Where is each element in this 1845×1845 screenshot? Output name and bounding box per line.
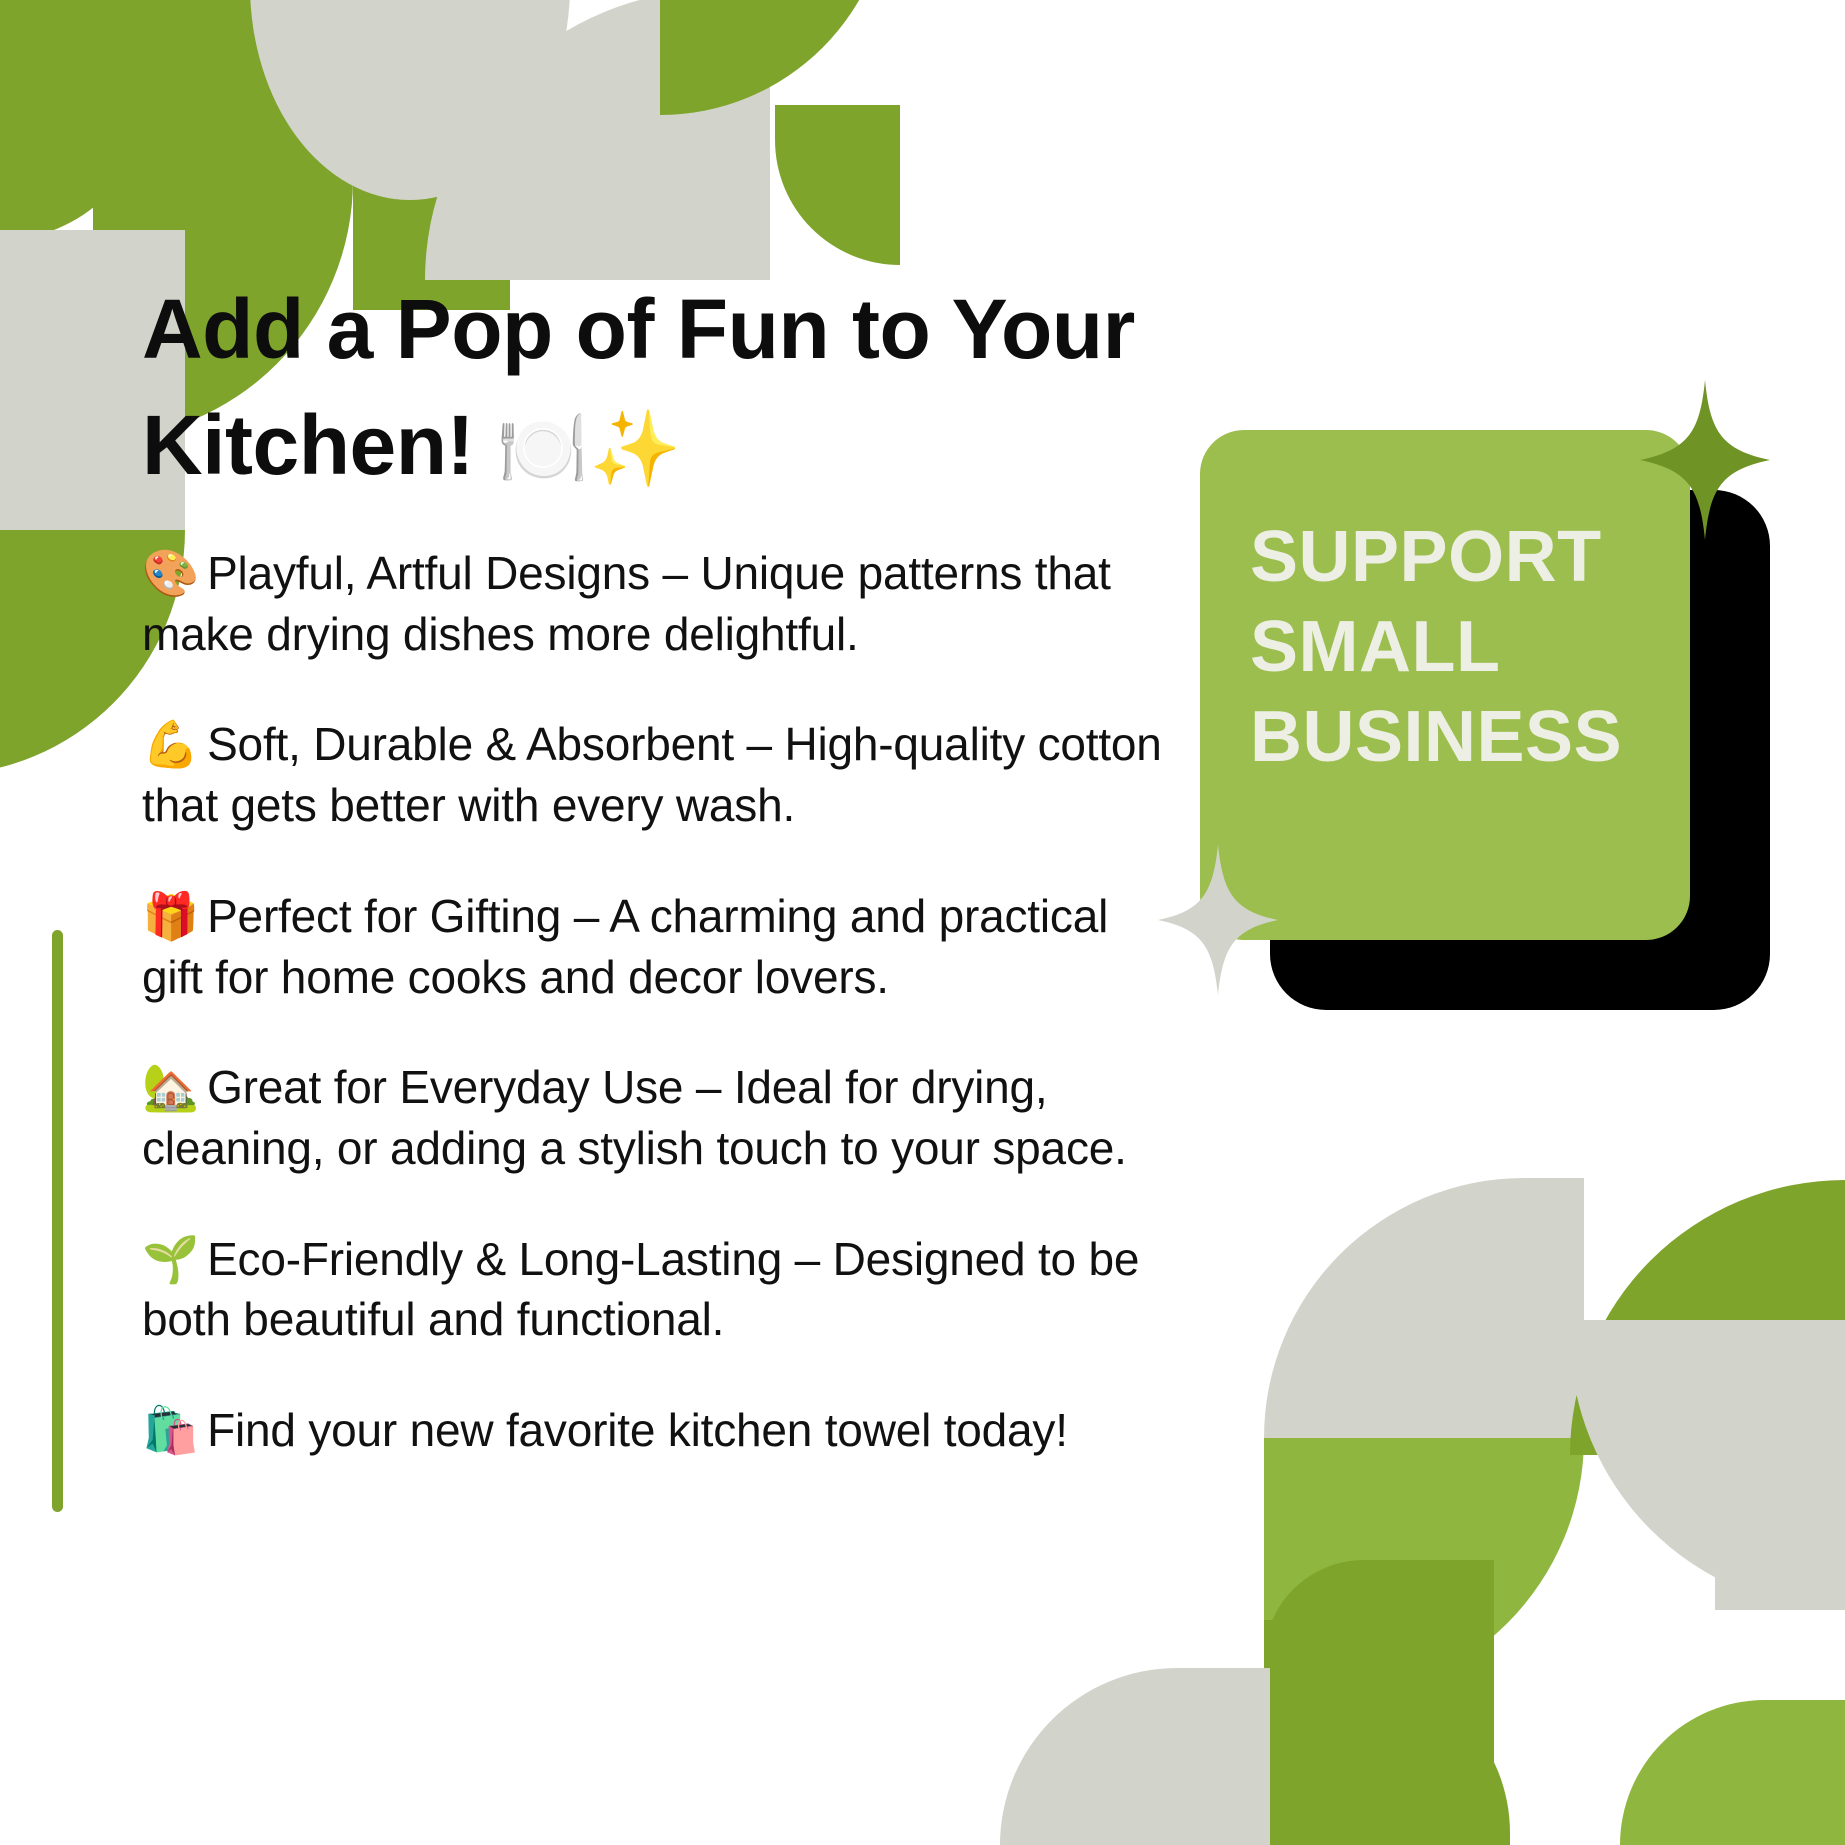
- badge-label-line-3: BUSINESS: [1250, 692, 1670, 782]
- badge-label: SUPPORT SMALL BUSINESS: [1250, 512, 1670, 782]
- list-item-text: Great for Everyday Use – Ideal for dryin…: [142, 1061, 1127, 1174]
- plate-and-sparkles-emoji: 🍽️✨: [497, 407, 681, 490]
- sparkle-icon-bottom-left: [1158, 845, 1278, 995]
- list-item: 💪Soft, Durable & Absorbent – High-qualit…: [142, 714, 1172, 835]
- list-item-text: Find your new favorite kitchen towel tod…: [207, 1404, 1068, 1456]
- badge-label-line-1: SUPPORT: [1250, 512, 1670, 602]
- support-small-business-badge: SUPPORT SMALL BUSINESS: [1200, 430, 1770, 1010]
- house-with-garden-emoji: 🏡: [142, 1061, 199, 1113]
- badge-label-line-2: SMALL: [1250, 602, 1670, 692]
- list-item-text: Eco-Friendly & Long-Lasting – Designed t…: [142, 1233, 1139, 1346]
- page-title: Add a Pop of Fun to Your Kitchen! 🍽️✨: [142, 272, 1222, 504]
- list-item: 🌱Eco-Friendly & Long-Lasting – Designed …: [142, 1229, 1172, 1350]
- list-item: 🛍️Find your new favorite kitchen towel t…: [142, 1400, 1172, 1461]
- page-title-line-1: Add a Pop of Fun to Your: [142, 282, 1135, 376]
- artist-palette-emoji: 🎨: [142, 547, 199, 599]
- list-item-text: Soft, Durable & Absorbent – High-quality…: [142, 718, 1162, 831]
- flexed-biceps-emoji: 💪: [142, 718, 199, 770]
- list-item: 🏡Great for Everyday Use – Ideal for dryi…: [142, 1057, 1172, 1178]
- wrapped-gift-emoji: 🎁: [142, 890, 199, 942]
- list-item-text: Perfect for Gifting – A charming and pra…: [142, 890, 1108, 1003]
- sparkle-icon-top-right: [1640, 380, 1770, 540]
- list-item: 🎨Playful, Artful Designs – Unique patter…: [142, 543, 1172, 664]
- list-item: 🎁Perfect for Gifting – A charming and pr…: [142, 886, 1172, 1007]
- list-item-text: Playful, Artful Designs – Unique pattern…: [142, 547, 1111, 660]
- page-title-line-2: Kitchen!: [142, 398, 474, 492]
- poster-canvas: Add a Pop of Fun to Your Kitchen! 🍽️✨ 🎨P…: [0, 0, 1845, 1845]
- shopping-bags-emoji: 🛍️: [142, 1404, 199, 1456]
- seedling-emoji: 🌱: [142, 1233, 199, 1285]
- feature-list: 🎨Playful, Artful Designs – Unique patter…: [142, 543, 1172, 1461]
